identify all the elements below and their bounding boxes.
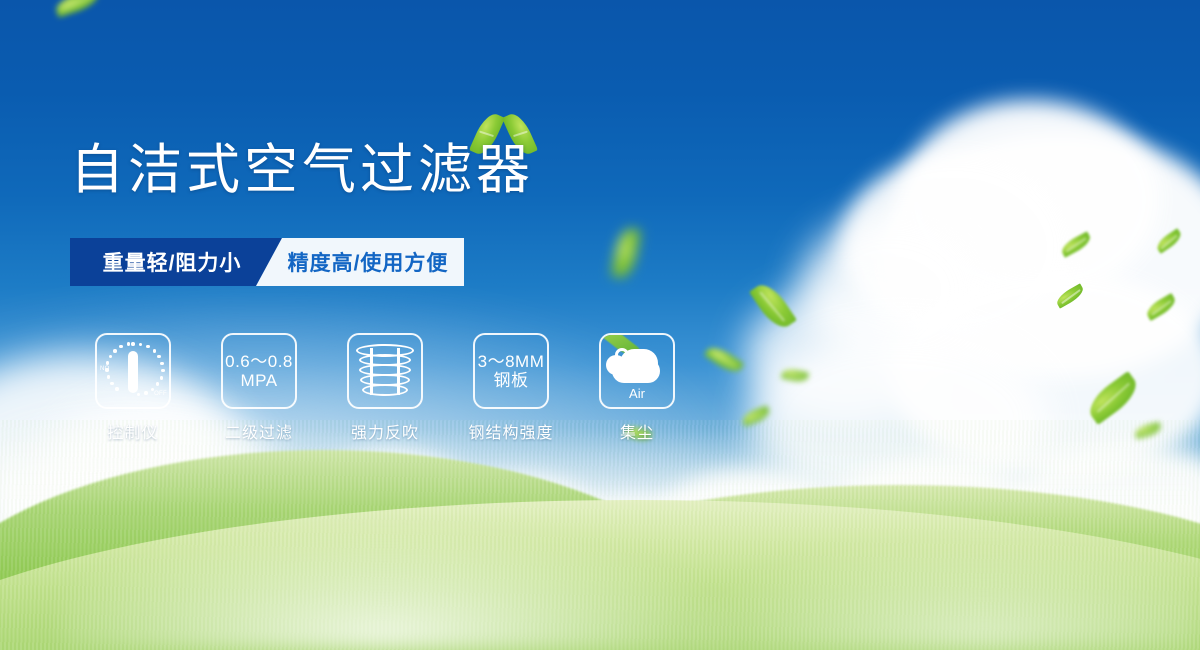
feature-item-pressure[interactable]: 0.6～0.8 MPA 二级过滤 [196,333,322,443]
feature-label: 二级过滤 [225,419,293,443]
gauge-needle [128,351,138,393]
subtitle-segment-right: 精度高/使用方便 [256,238,464,286]
steel-thickness: 3～8MM [478,352,545,371]
gauge-icon: NO OFF [102,340,164,402]
feature-label: 钢结构强度 [468,419,553,443]
product-banner: 自洁式空气过滤器 重量轻/阻力小 精度高/使用方便 [0,0,1200,650]
feature-item-controller[interactable]: NO OFF 控制仪 [70,333,196,443]
feature-label: 控制仪 [107,419,158,443]
gauge-label-off: OFF [154,391,167,397]
grass-field [0,420,1200,650]
feature-item-blowback[interactable]: 强力反吹 [322,333,448,443]
pressure-unit: MPA [225,371,293,390]
filter-stack-icon [356,344,414,398]
subtitle-segment-left: 重量轻/阻力小 [70,238,282,286]
subtitle-left-text: 重量轻/阻力小 [103,247,242,277]
subtitle-bar: 重量轻/阻力小 精度高/使用方便 [70,238,464,286]
feature-icon-box: NO OFF [95,333,171,409]
grass-highlight-right [660,530,1200,650]
cloud-body [612,359,660,383]
steel-material: 钢板 [478,371,545,390]
feature-icon-box: Air [599,333,675,409]
cloud-air-icon: Air [606,343,668,399]
feature-icon-box: 3～8MM 钢板 [473,333,549,409]
feature-item-steel[interactable]: 3～8MM 钢板 钢结构强度 [448,333,574,443]
page-title: 自洁式空气过滤器 [70,143,534,197]
pressure-value: 0.6～0.8 [225,352,293,371]
air-label: Air [606,386,668,401]
feature-label: 集尘 [620,419,654,443]
feature-item-dust[interactable]: Air 集尘 [574,333,700,443]
feature-icon-box [347,333,423,409]
steel-text-icon: 3～8MM 钢板 [478,352,545,390]
pressure-text-icon: 0.6～0.8 MPA [225,352,293,390]
subtitle-right-text: 精度高/使用方便 [288,247,449,277]
feature-icon-box: 0.6～0.8 MPA [221,333,297,409]
gauge-label-no: NO [100,366,110,372]
cloud-swirl [615,348,629,362]
feature-label: 强力反吹 [351,419,419,443]
feature-list: NO OFF 控制仪 0.6～0.8 MPA 二级过滤 [70,333,700,443]
